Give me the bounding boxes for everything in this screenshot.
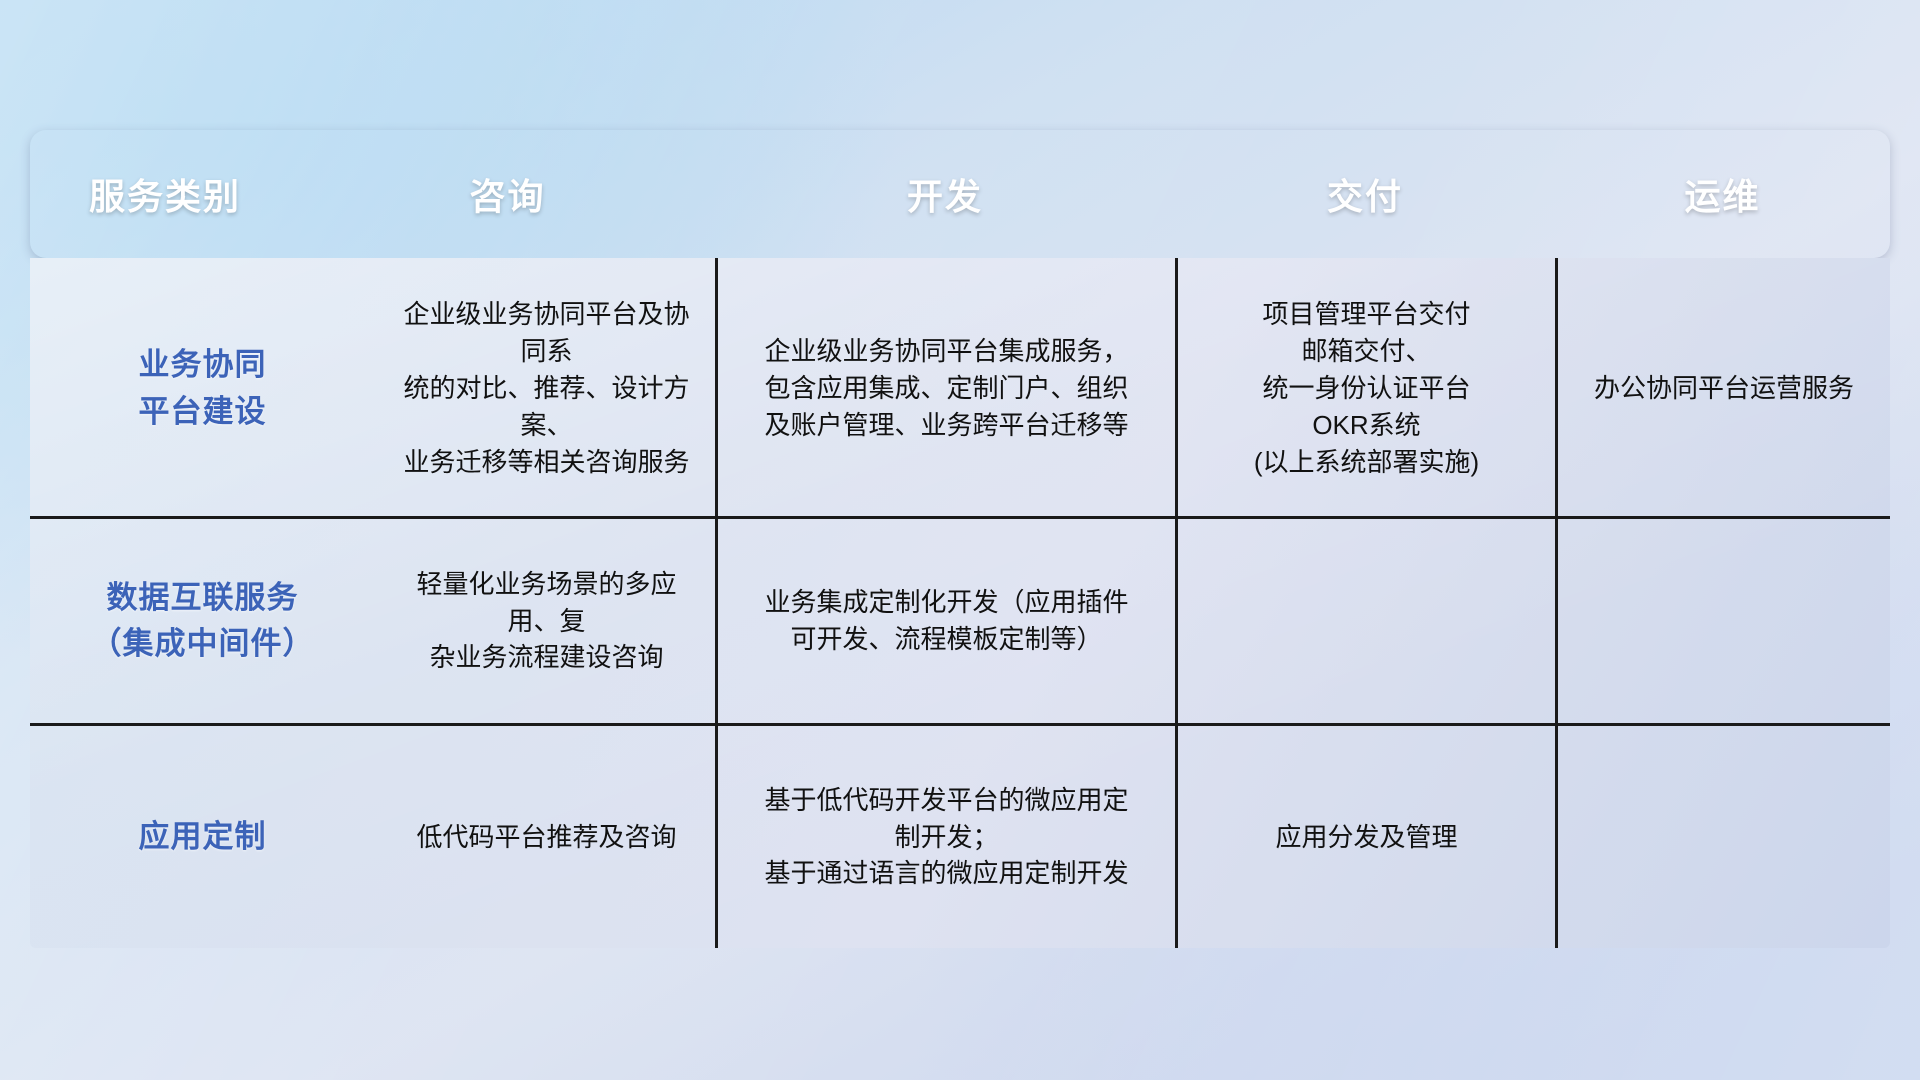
row-3-consulting: 低代码平台推荐及咨询 xyxy=(378,726,715,948)
row-1-delivery: 项目管理平台交付 邮箱交付、 统一身份认证平台 OKR系统 (以上系统部署实施) xyxy=(1178,261,1555,516)
row-1-operations: 办公协同平台运营服务 xyxy=(1558,261,1890,516)
service-matrix-table: 服务类别 咨询 开发 交付 运维 业务协同 平台建设 企业级业务协同平台及协同系… xyxy=(30,130,1890,948)
row-1-category: 业务协同 平台建设 xyxy=(30,261,375,516)
table-header-row: 服务类别 咨询 开发 交付 运维 xyxy=(30,130,1890,258)
row-1-consulting: 企业级业务协同平台及协同系 统的对比、推荐、设计方案、 业务迁移等相关咨询服务 xyxy=(378,261,715,516)
row-2-consulting: 轻量化业务场景的多应用、复 杂业务流程建设咨询 xyxy=(378,519,715,723)
column-header-operations: 运维 xyxy=(1555,130,1890,258)
row-3-category: 应用定制 xyxy=(30,726,375,948)
row-3-operations xyxy=(1558,726,1890,948)
row-2-category: 数据互联服务 （集成中间件） xyxy=(30,519,375,723)
row-2-development: 业务集成定制化开发（应用插件 可开发、流程模板定制等） xyxy=(718,519,1175,723)
row-2-delivery xyxy=(1178,519,1555,723)
column-header-consulting: 咨询 xyxy=(300,130,715,258)
column-header-delivery: 交付 xyxy=(1175,130,1555,258)
row-3-development: 基于低代码开发平台的微应用定 制开发； 基于通过语言的微应用定制开发 xyxy=(718,726,1175,948)
row-3-delivery: 应用分发及管理 xyxy=(1178,726,1555,948)
row-1-development: 企业级业务协同平台集成服务， 包含应用集成、定制门户、组织 及账户管理、业务跨平… xyxy=(718,261,1175,516)
row-2-operations xyxy=(1558,519,1890,723)
column-header-service-category: 服务类别 xyxy=(30,130,300,258)
column-header-development: 开发 xyxy=(715,130,1175,258)
